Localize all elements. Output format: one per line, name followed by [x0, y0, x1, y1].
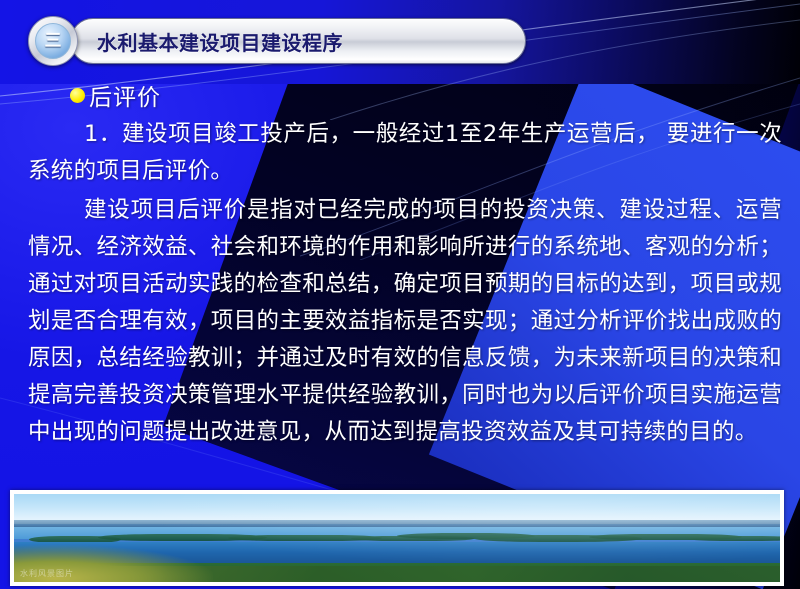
header-title-pill: 水利基本建设项目建设程序 — [70, 18, 526, 64]
chapter-three-icon: 三 — [35, 23, 71, 59]
page-title: 水利基本建设项目建设程序 — [97, 27, 343, 56]
reservoir-landscape-photo: 水利风景图片 — [14, 494, 780, 582]
slide-content: 后评价 1．建设项目竣工投产后，一般经过1至2年生产运营后， 要进行一次系统的项… — [0, 78, 800, 451]
slide-header: 水利基本建设项目建设程序 三 — [28, 16, 524, 64]
body-paragraph-2: 建设项目后评价是指对已经完成的项目的投资决策、建设过程、运营情况、经济效益、社会… — [28, 192, 782, 451]
chapter-badge: 三 — [28, 16, 78, 66]
photo-haze-overlay — [14, 494, 780, 582]
photo-frame: 水利风景图片 — [10, 490, 784, 586]
presentation-slide: 水利基本建设项目建设程序 三 后评价 1．建设项目竣工投产后，一般经过1至2年生… — [0, 0, 800, 589]
photo-watermark: 水利风景图片 — [20, 568, 74, 579]
yellow-dot-bullet-icon — [70, 88, 85, 103]
section-heading: 后评价 — [70, 78, 800, 112]
body-paragraph-1: 1．建设项目竣工投产后，一般经过1至2年生产运营后， 要进行一次系统的项目后评价… — [28, 116, 782, 190]
section-heading-label: 后评价 — [89, 78, 161, 112]
